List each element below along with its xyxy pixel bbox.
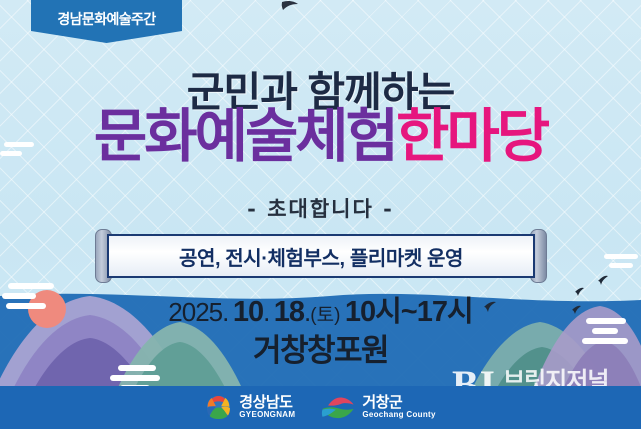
logo-gyeongnam: 경상남도 GYEONGNAM — [205, 394, 295, 421]
logo-geochang: 거창군 Geochang County — [321, 394, 435, 421]
gyeongnam-emblem-icon — [205, 394, 232, 421]
ribbon-label: 경남문화예술주간 — [57, 9, 155, 29]
event-date-line: 2025. 10. 18.(토) 10시~17시 — [0, 288, 641, 330]
cloud-decoration — [600, 254, 638, 272]
logo-gyeongnam-english: GYEONGNAM — [239, 411, 295, 419]
logo-geochang-english: Geochang County — [362, 411, 435, 419]
logo-geochang-names: 거창군 Geochang County — [362, 395, 435, 419]
date-weekday: (토) — [310, 305, 340, 326]
scroll-sheet: 공연, 전시·체험부스, 플리마켓 운영 — [107, 234, 535, 278]
footer-logo-bar: 경상남도 GYEONGNAM 거창군 Geochang County — [0, 386, 641, 429]
date-day: 18 — [274, 296, 304, 328]
event-poster: 경남문화예술주간 군민과 함께하는 문화예술체험한마당 - 초대합니다 - 공연… — [0, 0, 641, 429]
geochang-emblem-icon — [321, 394, 355, 421]
logo-gyeongnam-korean: 경상남도 — [239, 395, 295, 411]
headline-line-2-purple: 문화예술체험 — [94, 104, 396, 169]
logo-gyeongnam-names: 경상남도 GYEONGNAM — [239, 395, 295, 419]
headline-line-2: 문화예술체험한마당 — [0, 108, 641, 166]
bird-icon — [598, 276, 608, 285]
invitation-text: - 초대합니다 - — [0, 193, 641, 223]
event-time: 10시~17시 — [345, 296, 473, 328]
date-month: 10 — [233, 296, 263, 328]
date-month-dot: . — [263, 297, 269, 327]
logo-geochang-korean: 거창군 — [362, 395, 435, 411]
program-banner-text: 공연, 전시·체험부스, 플리마켓 운영 — [179, 242, 463, 271]
bird-icon — [282, 1, 298, 10]
date-year: 2025. — [168, 297, 228, 327]
event-venue: 거창창포원 — [0, 325, 641, 370]
headline-line-2-pink: 한마당 — [396, 104, 547, 169]
program-scroll-banner: 공연, 전시·체험부스, 플리마켓 운영 — [95, 229, 547, 283]
